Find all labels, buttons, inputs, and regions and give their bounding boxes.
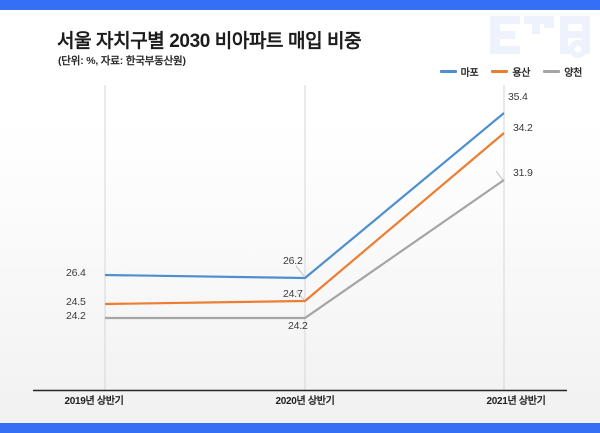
publisher-logo-watermark	[488, 12, 592, 58]
data-label-mapo-2019: 26.4	[66, 267, 86, 279]
legend-item-yangcheon[interactable]: 양천	[543, 64, 582, 79]
legend-swatch-mapo	[440, 70, 457, 73]
x-tick-2021: 2021년 상반기	[486, 392, 545, 407]
chart-card: 서울 자치구별 2030 비아파트 매입 비중 (단위: %, 자료: 한국부동…	[0, 0, 600, 433]
legend-swatch-yongsan	[491, 70, 508, 73]
data-label-mapo-2020: 26.2	[283, 255, 303, 267]
data-label-yongsan-2020: 24.7	[283, 288, 303, 300]
legend-label-mapo: 마포	[461, 64, 479, 79]
data-label-yangcheon-2021: 31.9	[513, 167, 533, 179]
top-accent-bar	[0, 0, 600, 10]
chart-subtitle: (단위: %, 자료: 한국부동산원)	[58, 53, 186, 68]
chart-plot-area	[0, 85, 600, 395]
legend-item-mapo[interactable]: 마포	[440, 64, 479, 79]
data-label-yongsan-2019: 24.5	[66, 296, 86, 308]
data-label-yangcheon-2020: 24.2	[288, 320, 308, 332]
data-label-yangcheon-2019: 24.2	[66, 310, 86, 322]
page-title: 서울 자치구별 2030 비아파트 매입 비중	[57, 26, 361, 53]
vertical-gridlines	[105, 85, 504, 390]
x-tick-2020: 2020년 상반기	[275, 392, 334, 407]
x-axis-tick-labels: 2019년 상반기 2020년 상반기 2021년 상반기	[0, 392, 600, 416]
legend-label-yangcheon: 양천	[564, 64, 582, 79]
bottom-accent-bar	[0, 423, 600, 433]
data-label-mapo-2021: 35.4	[508, 91, 528, 103]
chart-legend: 마포 용산 양천	[440, 64, 582, 79]
legend-label-yongsan: 용산	[512, 64, 530, 79]
legend-item-yongsan[interactable]: 용산	[491, 64, 530, 79]
data-label-yongsan-2021: 34.2	[513, 122, 533, 134]
legend-swatch-yangcheon	[543, 70, 560, 73]
x-tick-2019: 2019년 상반기	[64, 392, 123, 407]
